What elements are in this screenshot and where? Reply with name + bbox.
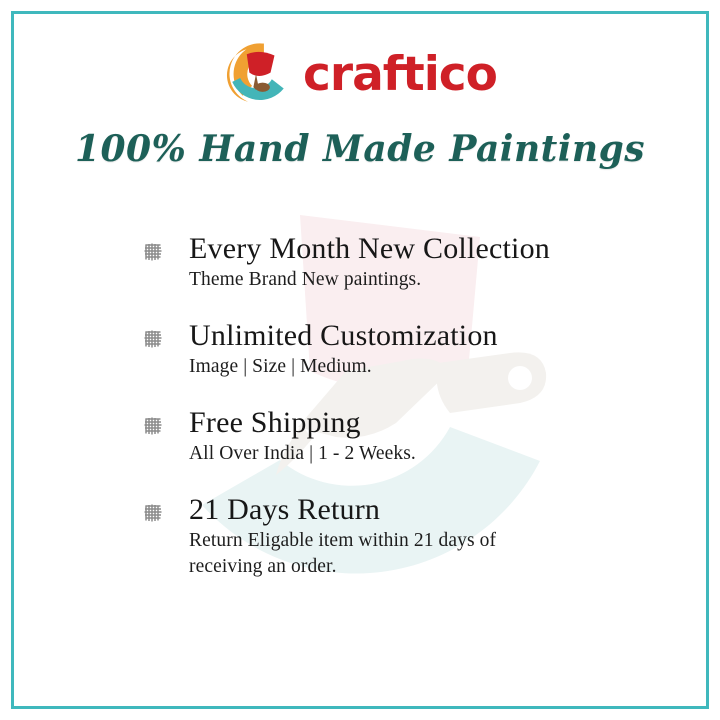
feature-description: Return Eligable item within 21 days of r… <box>189 528 643 581</box>
woven-grid-square-icon <box>143 416 163 436</box>
list-item: Unlimited Customization Image | Size | M… <box>143 319 643 380</box>
brand-wordmark: craftico <box>303 51 497 98</box>
feature-title: Every Month New Collection <box>189 232 643 266</box>
feature-title: 21 Days Return <box>189 493 643 527</box>
craftico-feature-banner: craftico 100% Hand Made Paintings <box>0 0 720 720</box>
brand-logo: craftico <box>0 34 720 114</box>
feature-title: Unlimited Customization <box>189 319 643 353</box>
feature-description-line: Return Eligable item within 21 days of <box>189 528 643 555</box>
woven-grid-square-icon <box>143 329 163 349</box>
list-item: Free Shipping All Over India | 1 - 2 Wee… <box>143 406 643 467</box>
feature-description: All Over India | 1 - 2 Weeks. <box>189 441 643 468</box>
feature-title: Free Shipping <box>189 406 643 440</box>
woven-grid-square-icon <box>143 242 163 262</box>
feature-description-line: Theme Brand New paintings. <box>189 267 643 294</box>
craftico-c-paintbrush-logo-icon <box>223 41 289 107</box>
list-item: Every Month New Collection Theme Brand N… <box>143 232 643 293</box>
woven-grid-square-icon <box>143 503 163 523</box>
list-item: 21 Days Return Return Eligable item with… <box>143 493 643 581</box>
feature-description: Theme Brand New paintings. <box>189 267 643 294</box>
feature-description: Image | Size | Medium. <box>189 354 643 381</box>
feature-description-line: All Over India | 1 - 2 Weeks. <box>189 441 643 468</box>
tagline: 100% Hand Made Paintings <box>0 128 720 170</box>
feature-list: Every Month New Collection Theme Brand N… <box>143 232 643 581</box>
feature-description-line: Image | Size | Medium. <box>189 354 643 381</box>
feature-description-line: receiving an order. <box>189 554 643 581</box>
